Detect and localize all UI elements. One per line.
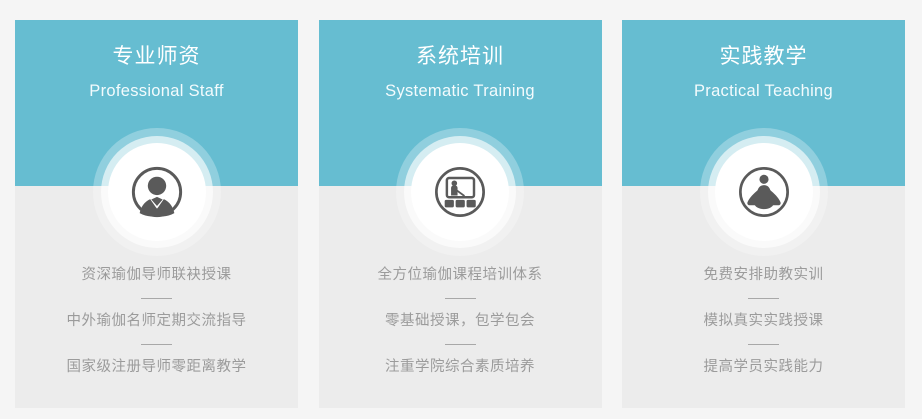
feature-divider xyxy=(141,344,172,345)
feature-card-professional-staff[interactable]: 专业师资 Professional Staff 资深 xyxy=(15,20,298,408)
icon-badge xyxy=(396,128,524,256)
icon-badge xyxy=(700,128,828,256)
feature-line: 中外瑜伽名师定期交流指导 xyxy=(15,310,298,332)
card-title-cn: 系统培训 xyxy=(319,42,602,72)
icon-disc xyxy=(108,143,206,241)
feature-divider xyxy=(445,344,476,345)
feature-line: 全方位瑜伽课程培训体系 xyxy=(319,264,602,286)
feature-divider xyxy=(748,344,779,345)
feature-line: 国家级注册导师零距离教学 xyxy=(15,356,298,378)
feature-card-practical-teaching[interactable]: 实践教学 Practical Teaching xyxy=(622,20,905,408)
card-title-en: Systematic Training xyxy=(319,78,602,104)
card-title-en: Professional Staff xyxy=(15,78,298,104)
card-title-en: Practical Teaching xyxy=(622,78,905,104)
feature-divider xyxy=(141,298,172,299)
icon-ring xyxy=(708,136,820,248)
icon-disc xyxy=(411,143,509,241)
classroom-presentation-icon xyxy=(432,164,488,220)
feature-card-systematic-training[interactable]: 系统培训 Systematic Training xyxy=(319,20,602,408)
feature-line: 资深瑜伽导师联袂授课 xyxy=(15,264,298,286)
icon-ring xyxy=(101,136,213,248)
feature-line: 模拟真实实践授课 xyxy=(622,310,905,332)
feature-line: 零基础授课，包学包会 xyxy=(319,310,602,332)
feature-line: 注重学院综合素质培养 xyxy=(319,356,602,378)
card-title-cn: 专业师资 xyxy=(15,42,298,72)
icon-disc xyxy=(715,143,813,241)
feature-line: 提高学员实践能力 xyxy=(622,356,905,378)
card-title-cn: 实践教学 xyxy=(622,42,905,72)
feature-cards-row: 专业师资 Professional Staff 资深 xyxy=(15,20,905,408)
icon-ring xyxy=(404,136,516,248)
icon-badge xyxy=(93,128,221,256)
feature-divider xyxy=(445,298,476,299)
feature-divider xyxy=(748,298,779,299)
person-suit-icon xyxy=(129,164,185,220)
feature-line: 免费安排助教实训 xyxy=(622,264,905,286)
yoga-lotus-icon xyxy=(736,164,792,220)
